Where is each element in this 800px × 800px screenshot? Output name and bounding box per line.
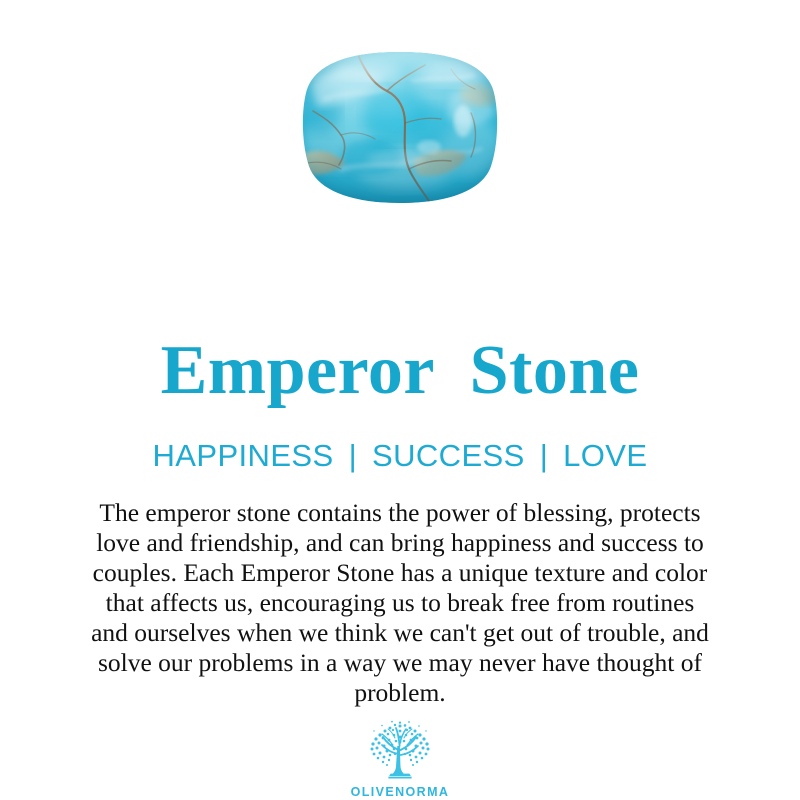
olive-tree-icon (362, 720, 438, 784)
tagline-separator: | (527, 440, 561, 471)
keyword-tagline: HAPPINESS | SUCCESS | LOVE (151, 440, 650, 471)
description-line: solve our problems in a way we may never… (30, 648, 770, 678)
description-line: problem. (30, 678, 770, 708)
brand-wordmark: OLIVENORMA (351, 785, 450, 799)
description-paragraph: The emperor stone contains the power of … (30, 498, 770, 708)
product-info-card: Emperor Stone HAPPINESS | SUCCESS | LOVE… (0, 0, 800, 800)
tagline-word-love: LOVE (561, 440, 649, 471)
hero-image-area (0, 0, 800, 250)
description-line: The emperor stone contains the power of … (30, 498, 770, 528)
page-title: Emperor Stone (161, 336, 640, 406)
tagline-separator: | (336, 440, 370, 471)
tagline-word-success: SUCCESS (370, 440, 527, 471)
description-line: that affects us, encouraging us to break… (30, 588, 770, 618)
emperor-stone-gemstone (301, 51, 499, 204)
description-line: love and friendship, and can bring happi… (30, 528, 770, 558)
tagline-word-happiness: HAPPINESS (151, 440, 336, 471)
brand-logo: OLIVENORMA (351, 720, 450, 799)
description-line: and ourselves when we think we can't get… (30, 618, 770, 648)
description-line: couples. Each Emperor Stone has a unique… (30, 558, 770, 588)
